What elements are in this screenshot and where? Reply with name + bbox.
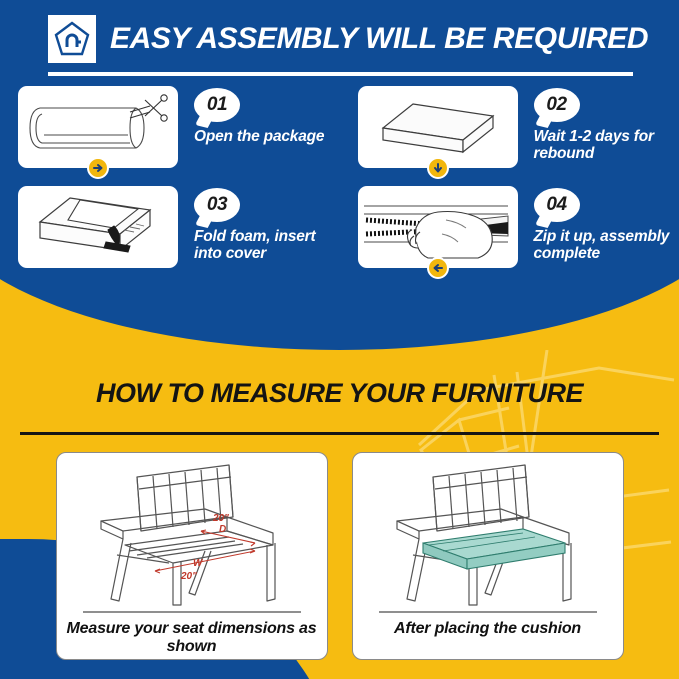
panel-caption-dimensions: Measure your seat dimensions as shown (57, 620, 327, 657)
step-number-badge-04: 04 (534, 188, 580, 222)
patio-chair-with-measurements-icon: 20" D W 20" (77, 459, 307, 609)
chair-depth-label: D (219, 524, 226, 535)
step-item-02: 02 Wait 1-2 days for rebound (340, 86, 679, 168)
patio-chair-with-cushion-icon (373, 459, 603, 609)
chair-depth-value: 20" (212, 513, 229, 524)
header-bar: EASY ASSEMBLY WILL BE REQUIRED (0, 0, 679, 78)
panel-divider-1 (83, 611, 301, 613)
hand-zipping-cushion-cover-icon (358, 186, 518, 268)
step-item-04: 04 Zip it up, assembly complete (340, 186, 679, 268)
rolled-package-with-scissors-icon (18, 86, 178, 168)
measure-panels: 20" D W 20" Measure your seat dimensions… (0, 452, 679, 660)
house-pentagon-logo-icon (48, 15, 96, 63)
chair-width-label: W (193, 558, 204, 569)
panel-caption-cushion: After placing the cushion (386, 620, 589, 638)
step-label-03: Fold foam, insert into cover (194, 228, 340, 263)
step-illustration-card-02 (358, 86, 518, 168)
step-text-04: 04 Zip it up, assembly complete (534, 186, 679, 263)
step-label-01: Open the package (194, 128, 324, 145)
step-number-badge-01: 01 (194, 88, 240, 122)
seat-cushion-shape (423, 529, 565, 569)
chair-width-value: 20" (180, 571, 197, 582)
page-title: EASY ASSEMBLY WILL BE REQUIRED (110, 22, 648, 56)
panel-divider-2 (379, 611, 597, 613)
step-number-badge-03: 03 (194, 188, 240, 222)
measure-section-title: HOW TO MEASURE YOUR FURNITURE (0, 378, 679, 409)
assembly-steps-grid: 01 Open the package (0, 86, 679, 268)
header-divider (48, 72, 633, 76)
step-label-04: Zip it up, assembly complete (534, 228, 679, 263)
step-item-03: 03 Fold foam, insert into cover (0, 186, 340, 268)
step-arrow-right-icon (87, 157, 109, 179)
measure-panel-dimensions: 20" D W 20" Measure your seat dimensions… (56, 452, 328, 660)
measure-panel-cushion: After placing the cushion (352, 452, 624, 660)
step-arrow-down-icon (427, 157, 449, 179)
step-text-01: 01 Open the package (194, 86, 324, 145)
step-item-01: 01 Open the package (0, 86, 340, 168)
step-label-02: Wait 1-2 days for rebound (534, 128, 679, 163)
step-text-02: 02 Wait 1-2 days for rebound (534, 86, 679, 163)
infographic-page: EASY ASSEMBLY WILL BE REQUIRED (0, 0, 679, 679)
folded-foam-into-cover-icon (18, 186, 178, 268)
step-number-01: 01 (207, 94, 227, 116)
step-number-02: 02 (546, 94, 566, 116)
step-text-03: 03 Fold foam, insert into cover (194, 186, 340, 263)
step-number-03: 03 (207, 194, 227, 216)
step-number-badge-02: 02 (534, 88, 580, 122)
step-illustration-card-04 (358, 186, 518, 268)
step-number-04: 04 (546, 194, 566, 216)
step-illustration-card-03 (18, 186, 178, 268)
measure-section-divider (20, 432, 659, 435)
step-illustration-card-01 (18, 86, 178, 168)
step-arrow-left-icon (427, 257, 449, 279)
flat-foam-cushion-icon (358, 86, 518, 168)
